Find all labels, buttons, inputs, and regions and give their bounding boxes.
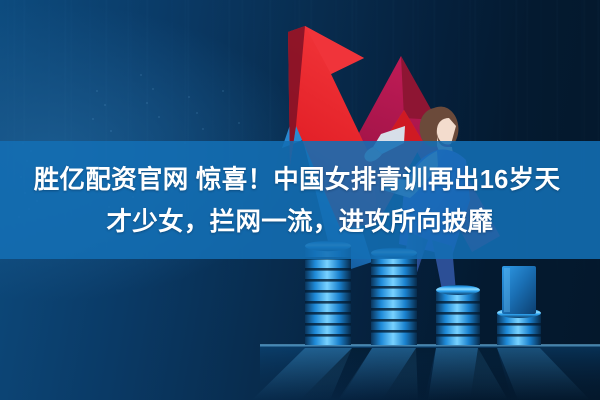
- caption-band: 胜亿配资官网 惊喜！中国女排青训再出16岁天 才少女，拦网一流，进攻所向披靡: [0, 141, 600, 259]
- caption-line-1: 胜亿配资官网 惊喜！中国女排青训再出16岁天: [34, 159, 561, 201]
- coin-stack: [371, 248, 417, 345]
- reflective-floor: [252, 344, 600, 400]
- coin-stack: [436, 285, 480, 345]
- caption-line-2: 才少女，拦网一流，进攻所向披靡: [106, 201, 493, 243]
- coin-stack: [497, 266, 541, 345]
- screenshot-canvas: 胜亿配资官网 惊喜！中国女排青训再出16岁天 才少女，拦网一流，进攻所向披靡: [0, 0, 600, 400]
